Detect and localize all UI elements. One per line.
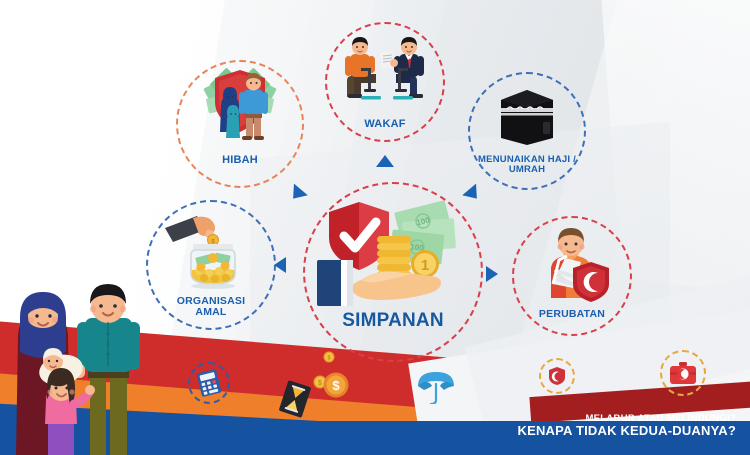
node-amal-label: ORGANISASI AMAL — [177, 296, 246, 318]
hand-coins-money-shield-icon: 100 100 — [313, 198, 473, 311]
arrow-up-to-wakaf — [376, 155, 394, 167]
injured-man-shield-icon — [529, 226, 615, 307]
bankbook-icon — [317, 260, 353, 306]
two-men-document-icon — [339, 36, 431, 117]
hibah-daughter — [226, 105, 240, 138]
node-wakaf-label: WAKAF — [364, 119, 405, 131]
node-perubatan[interactable]: PERUBATAN — [512, 216, 632, 336]
open-hand — [352, 272, 441, 300]
wakaf-man-orange — [345, 37, 381, 100]
medical-bag-icon — [669, 361, 697, 385]
dollar-coin-icon-small-2: $ — [323, 350, 335, 368]
node-hibah[interactable]: HIBAH — [176, 60, 304, 188]
wakaf-man-suit — [390, 37, 424, 100]
tagline-line-2: KENAPA TIDAK KEDUA-DUANYA? — [517, 424, 736, 439]
medical-bag-icon-ring — [660, 350, 706, 396]
umbrella-icon — [416, 370, 456, 409]
daughter-figure — [45, 368, 95, 455]
node-haji-label-line2: UMRAH — [509, 164, 545, 175]
node-perubatan-label: PERUBATAN — [539, 309, 605, 320]
gold-coin: 1 — [411, 250, 439, 278]
father-figure — [73, 284, 140, 455]
family-shield-money-icon — [197, 62, 283, 153]
node-hibah-label: HIBAH — [222, 155, 258, 167]
node-simpanan-center[interactable]: 100 100 — [303, 182, 483, 362]
node-organisasi-amal[interactable]: $ — [146, 200, 276, 330]
kaaba-icon — [497, 88, 557, 151]
svg-text:$: $ — [318, 380, 322, 387]
calculator-icon — [195, 368, 223, 399]
node-simpanan-label: SIMPANAN — [342, 311, 444, 331]
infographic-canvas: HIBAH — [0, 0, 750, 455]
shield-crescent-icon-ring — [539, 358, 575, 394]
tagline: MELABUR ATAU MELINDUNGI? KENAPA TIDAK KE… — [517, 414, 736, 439]
muslim-family-illustration — [4, 278, 174, 455]
svg-text:$: $ — [332, 378, 340, 393]
dollar-coin-icon-large: $ — [323, 372, 349, 403]
hourglass-icon — [282, 382, 308, 421]
arrow-right-to-perubatan — [486, 266, 498, 282]
node-amal-label-line2: AMAL — [195, 306, 226, 318]
calculator-icon-ring — [188, 362, 230, 404]
donation-jar-hand-icon: $ — [163, 208, 259, 295]
coin-value: 1 — [421, 257, 429, 274]
node-haji-umrah[interactable]: MENUNAIKAN HAJI / UMRAH — [468, 72, 586, 190]
node-haji-label: MENUNAIKAN HAJI / UMRAH — [478, 155, 576, 175]
shield-crescent-icon — [548, 366, 566, 386]
node-wakaf[interactable]: WAKAF — [325, 22, 445, 142]
arrow-left-to-amal — [274, 257, 286, 273]
